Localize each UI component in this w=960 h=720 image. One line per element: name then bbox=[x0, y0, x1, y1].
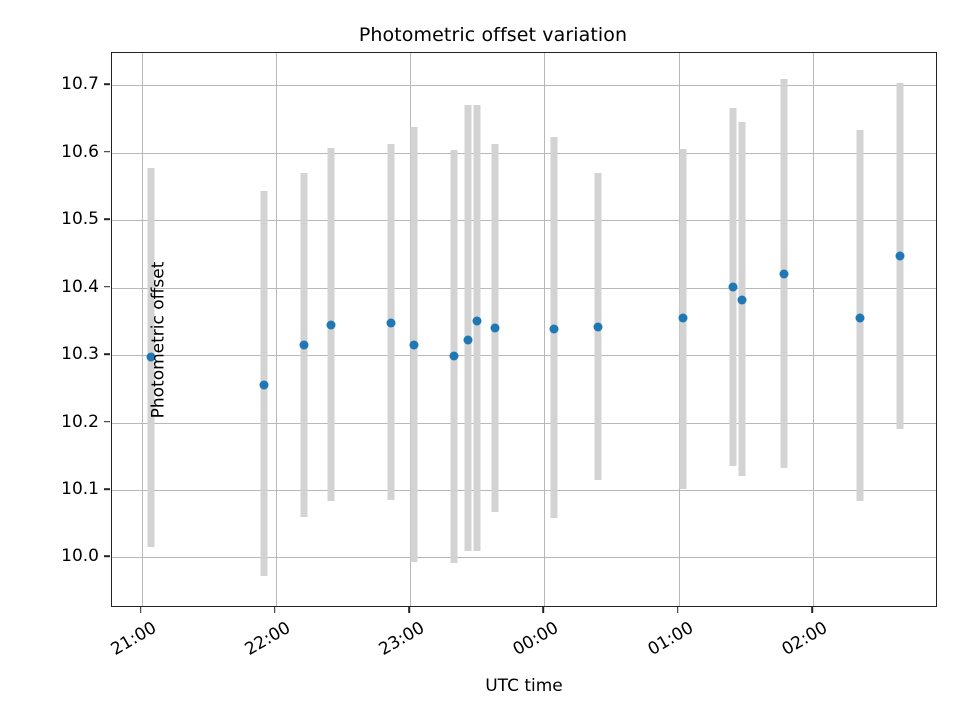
y-tick-label: 10.4 bbox=[61, 277, 99, 297]
y-tick-mark bbox=[104, 556, 110, 558]
x-tick-mark bbox=[811, 607, 813, 613]
y-tick-label: 10.7 bbox=[61, 74, 99, 94]
x-tick-mark bbox=[274, 607, 276, 613]
y-tick-mark bbox=[104, 488, 110, 490]
data-point[interactable] bbox=[463, 335, 472, 344]
data-point[interactable] bbox=[259, 380, 268, 389]
y-tick-label: 10.1 bbox=[61, 479, 99, 499]
errorbar bbox=[474, 105, 481, 551]
y-tick-mark bbox=[104, 421, 110, 423]
data-point[interactable] bbox=[473, 316, 482, 325]
data-point[interactable] bbox=[490, 324, 499, 333]
x-tick-label: 01:00 bbox=[644, 618, 696, 660]
data-point[interactable] bbox=[779, 270, 788, 279]
y-tick-mark bbox=[104, 353, 110, 355]
data-point[interactable] bbox=[737, 296, 746, 305]
data-point[interactable] bbox=[410, 341, 419, 350]
x-tick-mark bbox=[543, 607, 545, 613]
x-tick-mark bbox=[408, 607, 410, 613]
chart-title-text: Photometric offset variation bbox=[359, 24, 627, 46]
y-tick-label: 10.3 bbox=[61, 344, 99, 364]
y-tick-mark bbox=[104, 84, 110, 86]
y-tick-label: 10.2 bbox=[61, 412, 99, 432]
x-axis-label: UTC time bbox=[111, 676, 937, 696]
data-point[interactable] bbox=[896, 251, 905, 260]
y-tick-label: 10.6 bbox=[61, 142, 99, 162]
gridline-x-02-00 bbox=[813, 53, 814, 606]
figure-canvas: Photometric offset variation 10.010.110.… bbox=[0, 0, 960, 720]
x-tick-label: 22:00 bbox=[241, 618, 293, 660]
y-tick-mark bbox=[104, 151, 110, 153]
y-axis-label: Photometric offset bbox=[149, 63, 169, 618]
y-tick-mark bbox=[104, 218, 110, 220]
data-point[interactable] bbox=[387, 318, 396, 327]
data-point[interactable] bbox=[326, 320, 335, 329]
gridline-x-22-00 bbox=[276, 53, 277, 606]
data-point[interactable] bbox=[856, 314, 865, 323]
data-point[interactable] bbox=[450, 352, 459, 361]
x-tick-label: 02:00 bbox=[779, 618, 831, 660]
gridline-x-21-00 bbox=[142, 53, 143, 606]
chart-title: Photometric offset variation bbox=[0, 24, 960, 46]
x-tick-mark bbox=[677, 607, 679, 613]
data-point[interactable] bbox=[549, 324, 558, 333]
data-point[interactable] bbox=[594, 322, 603, 331]
gridline-x-00-00 bbox=[544, 53, 545, 606]
x-tick-mark bbox=[140, 607, 142, 613]
errorbar bbox=[464, 105, 471, 551]
plot-area bbox=[111, 52, 937, 607]
data-point[interactable] bbox=[678, 314, 687, 323]
y-tick-mark bbox=[104, 286, 110, 288]
y-tick-label: 10.5 bbox=[61, 209, 99, 229]
data-point[interactable] bbox=[300, 341, 309, 350]
y-tick-label: 10.0 bbox=[61, 546, 99, 566]
data-point[interactable] bbox=[728, 283, 737, 292]
x-tick-label: 21:00 bbox=[107, 618, 159, 660]
x-tick-label: 00:00 bbox=[510, 618, 562, 660]
x-tick-label: 23:00 bbox=[376, 618, 428, 660]
